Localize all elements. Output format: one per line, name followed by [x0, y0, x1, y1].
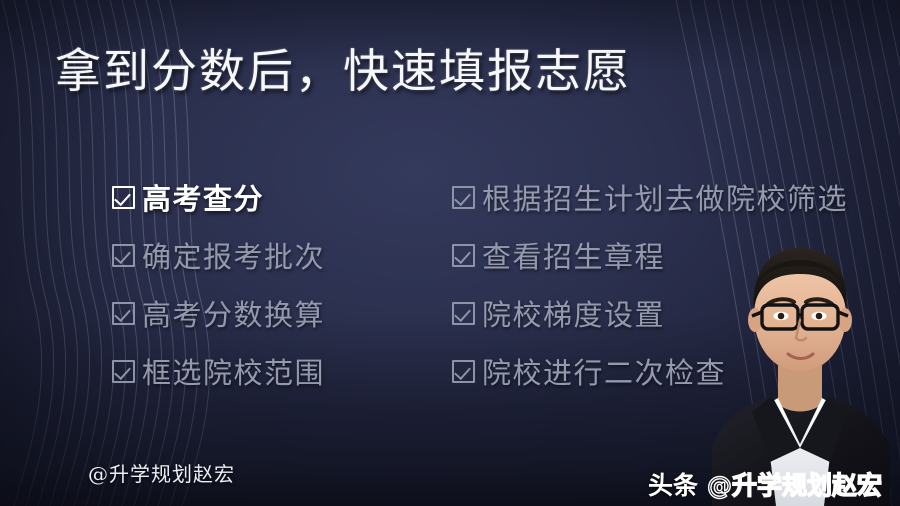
slide-canvas: 拿到分数后，快速填报志愿 高考查分 确定报考批次 高考分数换算 框选院校范围 根… [0, 0, 900, 506]
checkbox-checked-icon[interactable] [112, 244, 135, 267]
logo-brand-label: 头条 [648, 466, 698, 502]
checklist-item-label: 查看招生章程 [482, 234, 665, 276]
checklist-column-left: 高考查分 确定报考批次 高考分数换算 框选院校范围 [112, 168, 325, 400]
page-title: 拿到分数后，快速填报志愿 [55, 44, 631, 98]
toutiao-logo: 头条 @升学规划赵宏 [648, 466, 882, 502]
presenter-photo [700, 212, 900, 506]
checkbox-checked-icon[interactable] [452, 186, 475, 209]
checklist-item-label: 院校进行二次检查 [482, 350, 726, 392]
checklist-item-2[interactable]: 高考分数换算 [112, 284, 325, 342]
checklist-item-3[interactable]: 框选院校范围 [112, 342, 325, 400]
checkbox-checked-icon[interactable] [112, 302, 135, 325]
checklist-item-label: 高考分数换算 [142, 292, 325, 334]
watermark-handle: @升学规划赵宏 [88, 458, 235, 487]
checkbox-checked-icon[interactable] [452, 360, 475, 383]
checklist-item-0[interactable]: 高考查分 [112, 168, 325, 226]
checklist-item-label: 高考查分 [142, 176, 264, 218]
checkbox-checked-icon[interactable] [112, 186, 135, 209]
checklist-item-1[interactable]: 确定报考批次 [112, 226, 325, 284]
checklist-item-label: 确定报考批次 [142, 234, 325, 276]
checkbox-checked-icon[interactable] [452, 244, 475, 267]
logo-handle-label: @升学规划赵宏 [707, 466, 882, 502]
checkbox-checked-icon[interactable] [112, 360, 135, 383]
checklist-item-label: 院校梯度设置 [482, 292, 665, 334]
checklist-item-label: 框选院校范围 [142, 350, 325, 392]
checkbox-checked-icon[interactable] [452, 302, 475, 325]
